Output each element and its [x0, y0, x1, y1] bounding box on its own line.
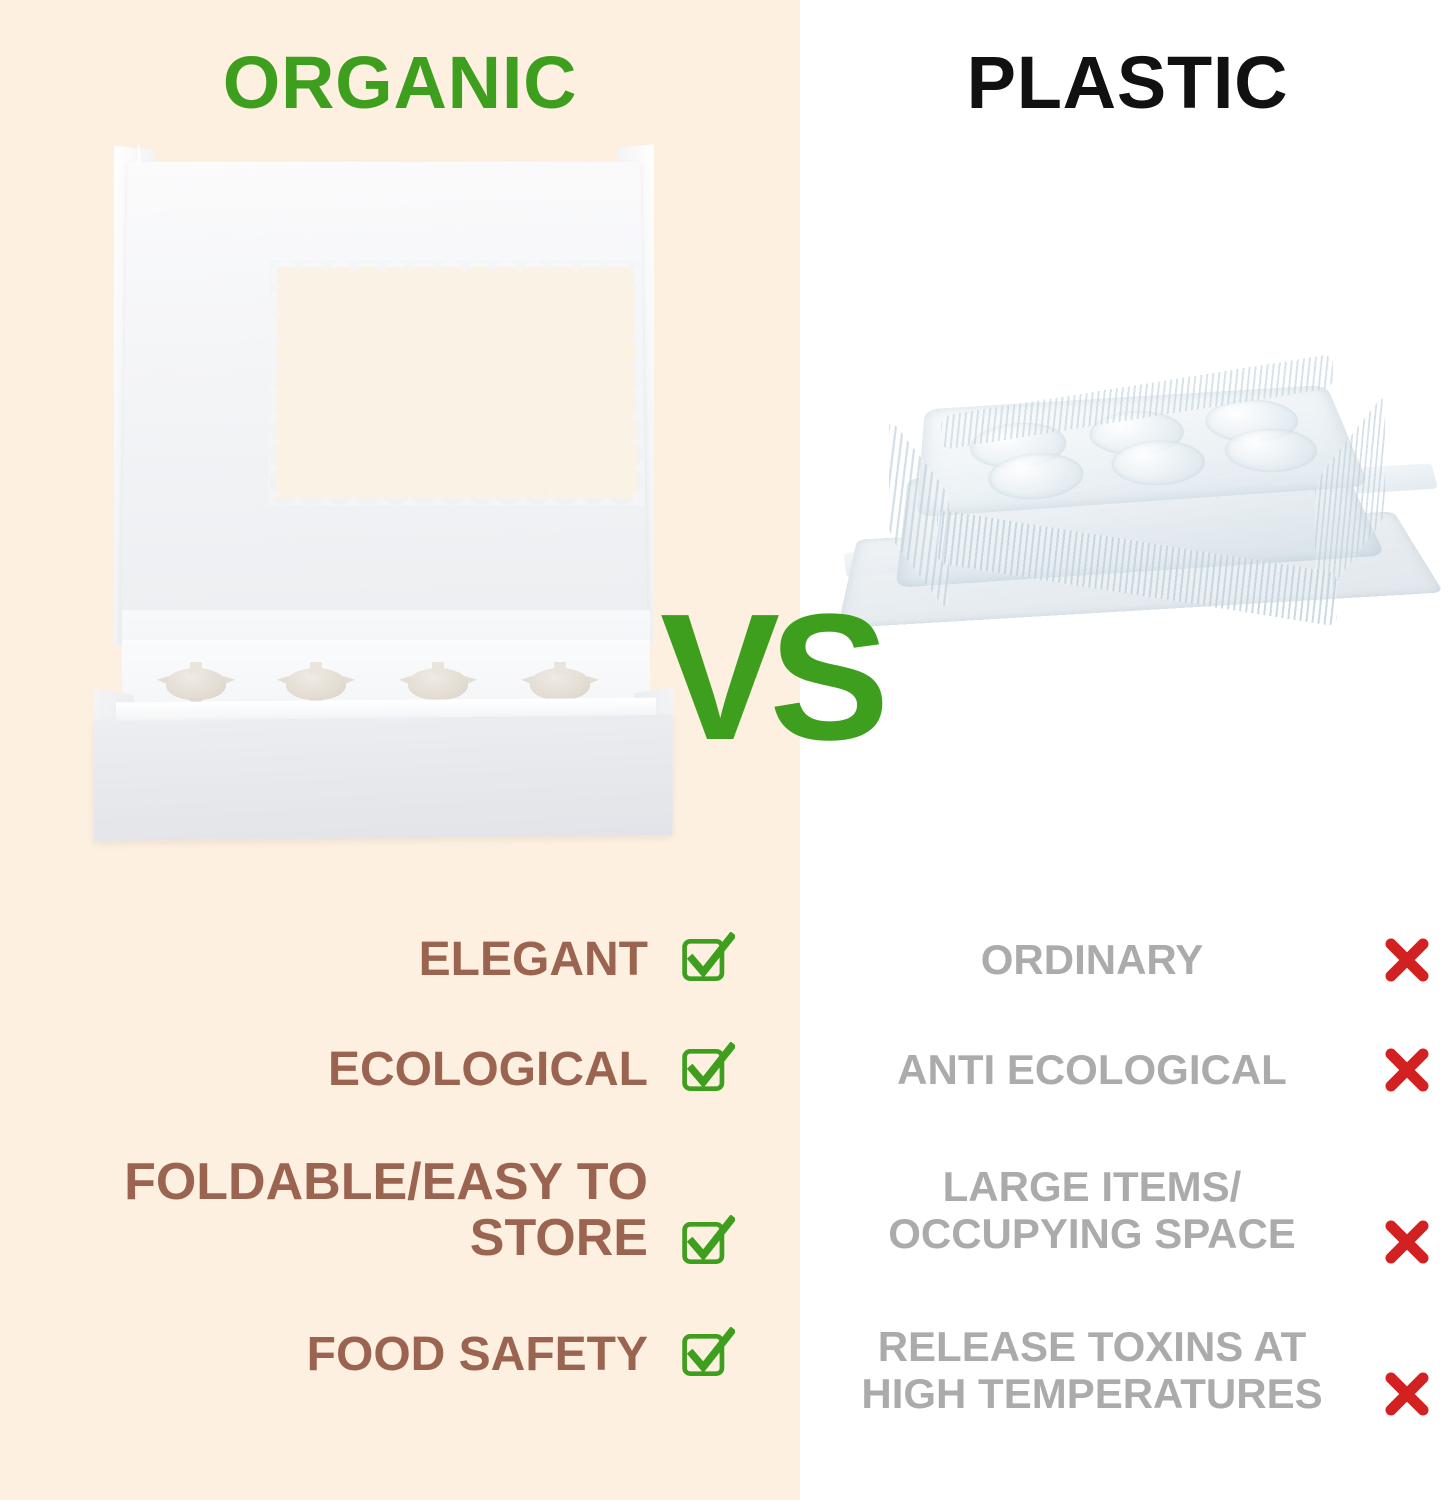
feature-row-release-toxins: RELEASE TOXINS AT HIGH TEMPERATURES: [830, 1295, 1440, 1445]
feature-row-large-items: LARGE ITEMS/ OCCUPYING SPACE: [830, 1125, 1440, 1295]
organic-heading: ORGANIC: [0, 40, 800, 125]
versus-badge: VS: [660, 588, 879, 768]
check-icon: [674, 932, 740, 988]
plastic-clamshell-product-image: [845, 345, 1435, 745]
cross-icon: [1374, 1045, 1440, 1095]
feature-label: RELEASE TOXINS AT HIGH TEMPERATURES: [830, 1323, 1374, 1417]
feature-row-ecological: ECOLOGICAL: [60, 1015, 740, 1125]
check-mark-icon: [679, 932, 735, 988]
check-icon: [674, 1327, 740, 1383]
feature-row-anti-ecological: ANTI ECOLOGICAL: [830, 1015, 1440, 1125]
plastic-feature-list: ORDINARY ANTI ECOLOGICAL LARGE ITEMS/ OC…: [830, 905, 1440, 1445]
check-mark-icon: [679, 1215, 735, 1271]
box-scalloped-window: [275, 267, 637, 498]
cross-mark-icon: [1382, 1217, 1432, 1267]
cross-icon: [1374, 1217, 1440, 1267]
check-icon: [674, 1215, 740, 1271]
feature-label: FOOD SAFETY: [60, 1329, 674, 1381]
cross-mark-icon: [1382, 1045, 1432, 1095]
feature-label: LARGE ITEMS/ OCCUPYING SPACE: [830, 1163, 1374, 1257]
cupcake-hole: [158, 662, 234, 706]
check-icon: [674, 1042, 740, 1098]
organic-box-product-image: [86, 140, 686, 880]
comparison-infographic: ORGANIC PLASTIC: [0, 0, 1455, 1500]
cross-icon: [1374, 1369, 1440, 1419]
cross-icon: [1374, 935, 1440, 985]
feature-label: ELEGANT: [60, 934, 674, 986]
box-base-front-panel: [94, 715, 672, 841]
feature-row-ordinary: ORDINARY: [830, 905, 1440, 1015]
feature-label: ECOLOGICAL: [60, 1044, 674, 1096]
feature-row-foldable: FOLDABLE/EASY TO STORE: [60, 1125, 740, 1295]
check-mark-icon: [679, 1327, 735, 1383]
feature-row-food-safety: FOOD SAFETY: [60, 1295, 740, 1415]
feature-row-elegant: ELEGANT: [60, 905, 740, 1015]
feature-label: ORDINARY: [830, 936, 1374, 983]
window-scallop-left: [268, 261, 283, 504]
box-lid-panel: [120, 162, 647, 641]
cross-mark-icon: [1382, 1369, 1432, 1419]
feature-label: FOLDABLE/EASY TO STORE: [60, 1154, 674, 1266]
plastic-heading: PLASTIC: [800, 40, 1455, 125]
organic-feature-list: ELEGANT ECOLOGICAL FOLDABLE/EASY TO STOR…: [60, 905, 740, 1415]
feature-label: ANTI ECOLOGICAL: [830, 1046, 1374, 1093]
cross-mark-icon: [1382, 935, 1432, 985]
window-scallop-right: [628, 261, 645, 504]
check-mark-icon: [679, 1042, 735, 1098]
